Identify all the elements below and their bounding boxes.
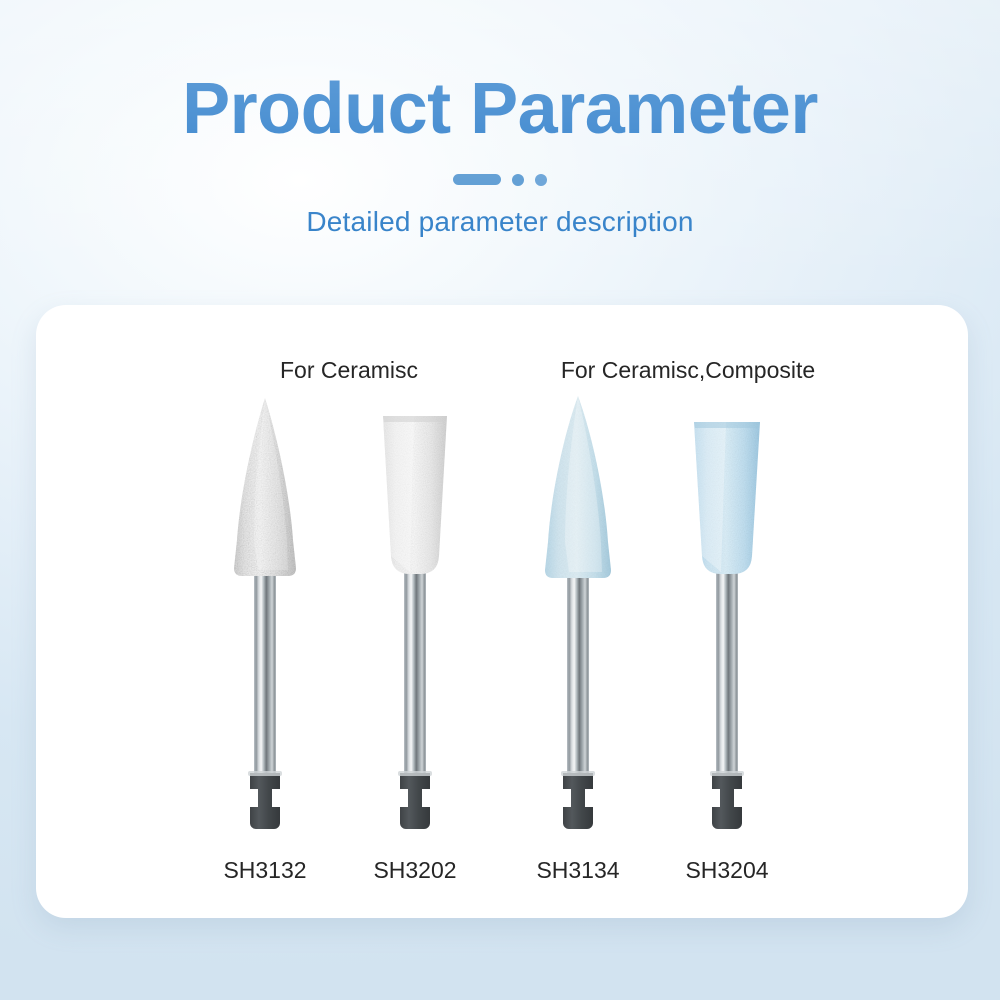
page-title: Product Parameter	[0, 72, 1000, 148]
page-subtitle: Detailed parameter description	[0, 206, 1000, 238]
product-list: SH3132	[36, 305, 968, 918]
tool-illustration-sh3204	[642, 390, 812, 860]
product-card: For Ceramisc For Ceramisc,Composite	[36, 305, 968, 918]
tool-illustration-sh3134	[493, 390, 663, 860]
divider-dot-icon	[512, 174, 524, 186]
page-header: Product Parameter Detailed parameter des…	[0, 0, 1000, 238]
page-background: Product Parameter Detailed parameter des…	[0, 0, 1000, 1000]
product-code: SH3204	[642, 857, 812, 884]
product-code: SH3134	[493, 857, 663, 884]
divider-bar-icon	[453, 174, 501, 185]
tool-illustration-sh3132	[180, 390, 350, 860]
product-code: SH3132	[180, 857, 350, 884]
tool-illustration-sh3202	[330, 390, 500, 860]
divider-dot-icon-2	[535, 174, 547, 186]
title-divider	[445, 174, 555, 186]
product-code: SH3202	[330, 857, 500, 884]
